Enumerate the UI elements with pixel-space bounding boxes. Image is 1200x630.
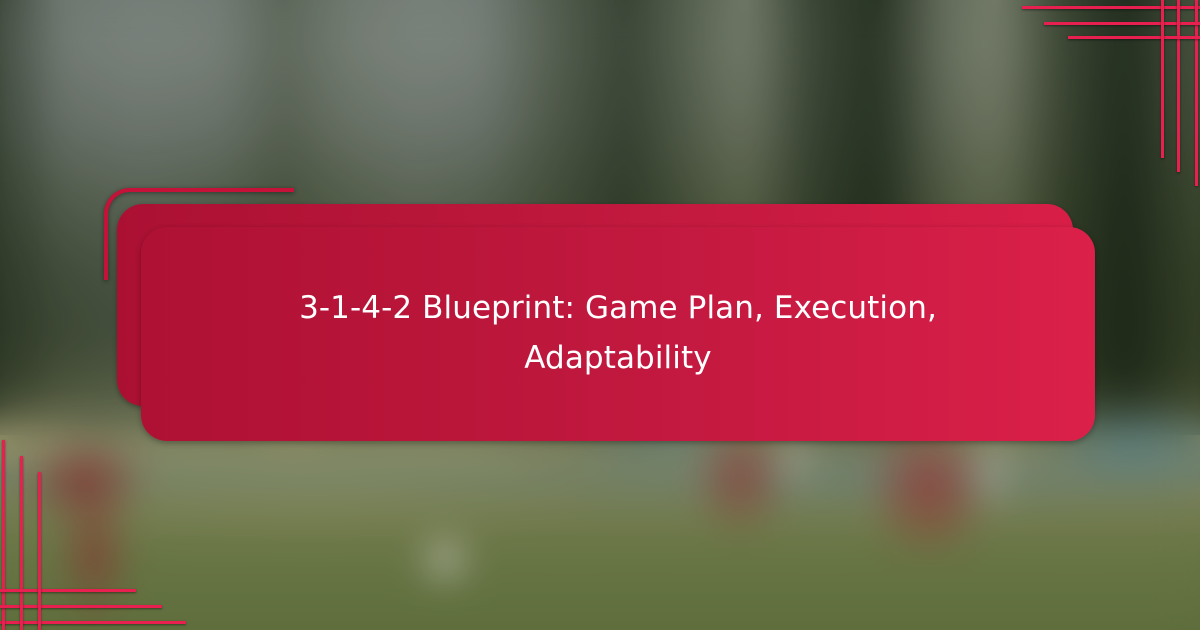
title-card-stack: 3-1-4-2 Blueprint: Game Plan, Execution,… — [0, 0, 1200, 630]
page-title: 3-1-4-2 Blueprint: Game Plan, Execution,… — [218, 284, 1018, 383]
card-front-layer: 3-1-4-2 Blueprint: Game Plan, Execution,… — [141, 227, 1095, 441]
